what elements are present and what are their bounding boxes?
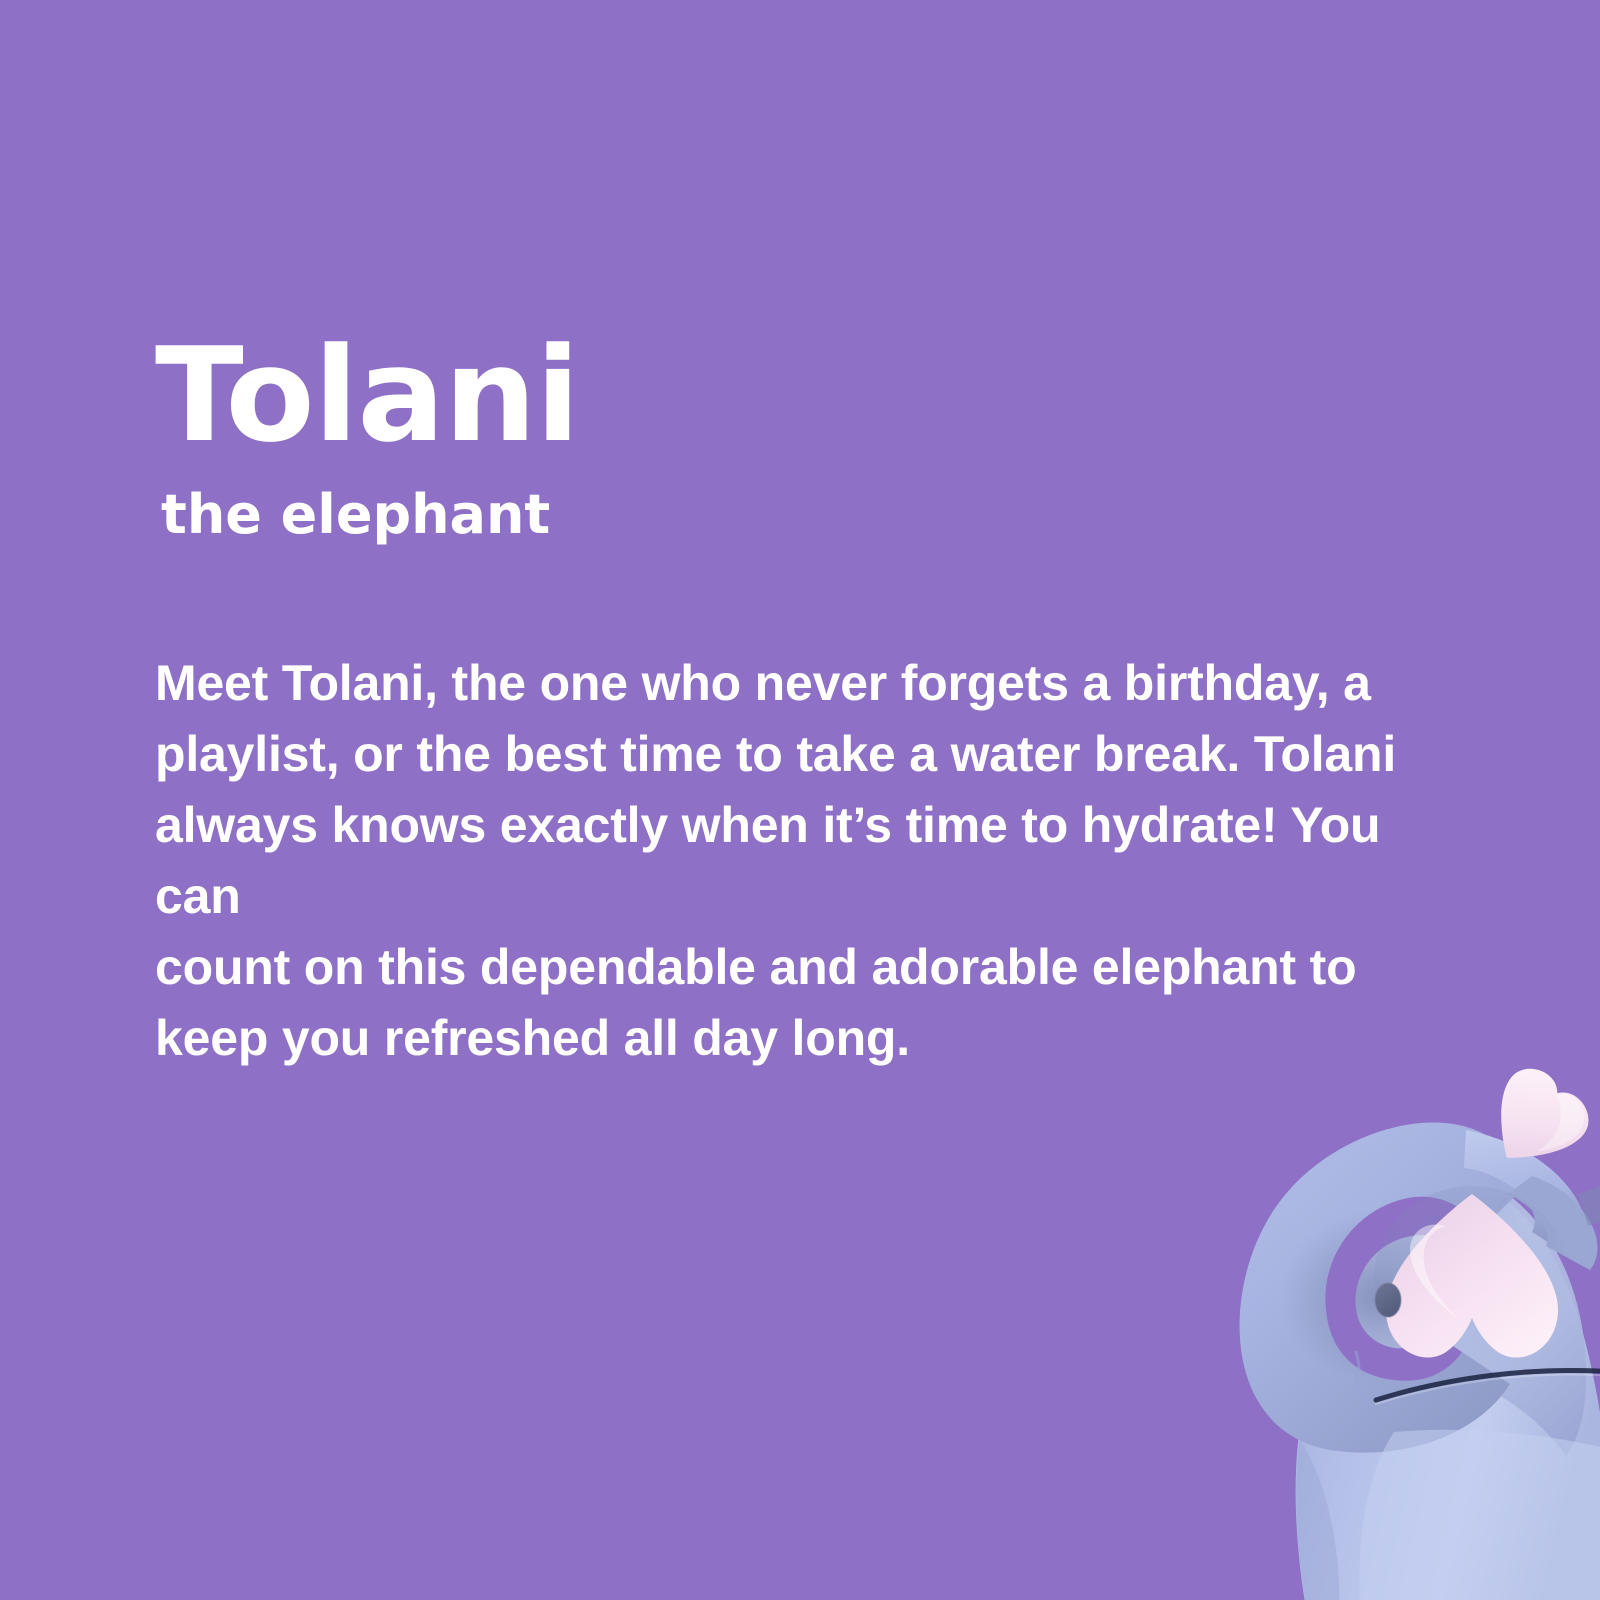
character-profile-card: Tolani the elephant Meet Tolani, the one… — [0, 0, 1600, 1600]
description-line: Meet Tolani, the one who never forgets a… — [155, 648, 1465, 719]
page-subtitle: the elephant — [161, 488, 1475, 542]
description-block: Meet Tolani, the one who never forgets a… — [155, 648, 1465, 1074]
description-line: count on this dependable and adorable el… — [155, 932, 1465, 1003]
description-line: keep you refreshed all day long. — [155, 1003, 1465, 1074]
description-line: always knows exactly when it’s time to h… — [155, 790, 1465, 932]
heading-group: Tolani the elephant — [155, 330, 1475, 542]
description-text: Meet Tolani, the one who never forgets a… — [155, 648, 1465, 1074]
description-line: playlist, or the best time to take a wat… — [155, 719, 1465, 790]
page-title: Tolani — [155, 330, 1475, 460]
